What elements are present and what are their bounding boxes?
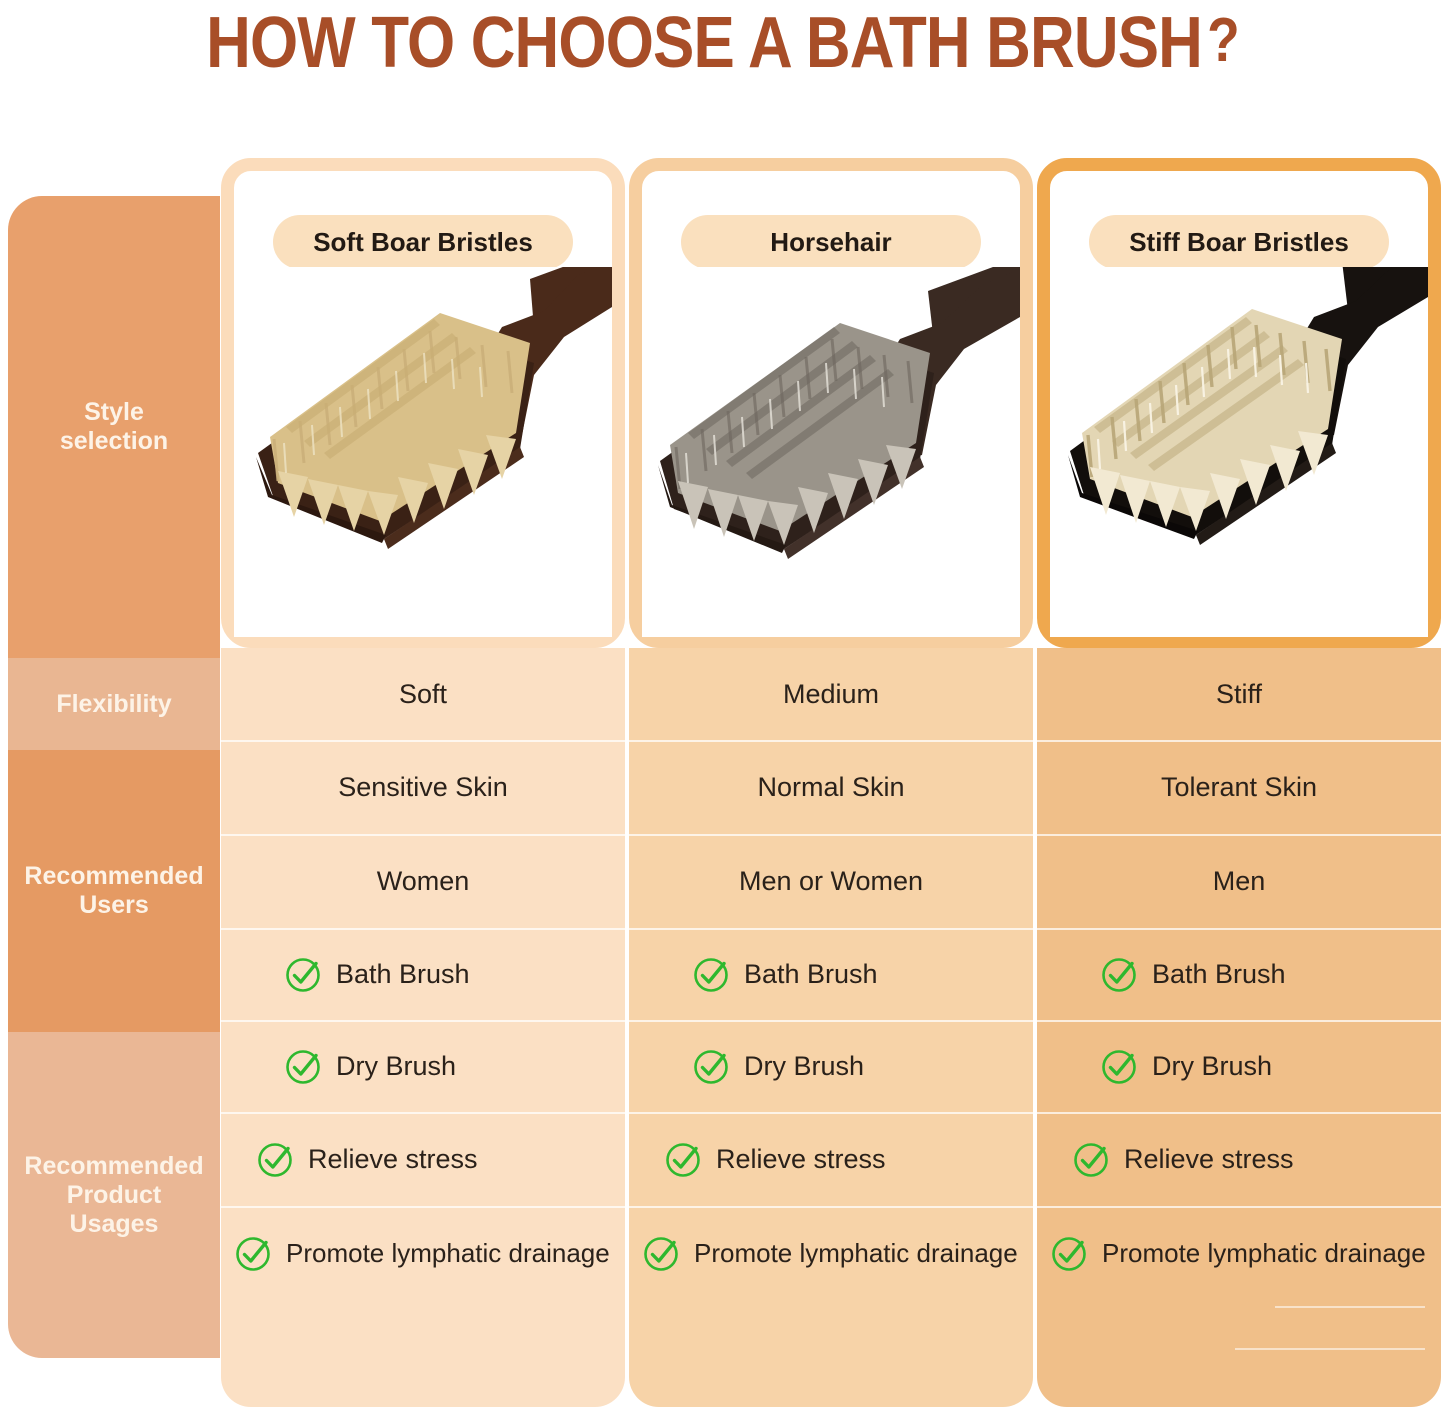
cell-skin-2-text: Normal Skin [757,772,904,803]
brush-illustration-3 [1050,267,1428,637]
row-label-recommended-users: RecommendedUsers [8,750,220,1032]
cell-skin-3: Tolerant Skin [1037,740,1441,834]
cell-skin-3-text: Tolerant Skin [1161,772,1317,803]
cell-usage-2-0-text: Bath Brush [744,959,878,990]
cell-flexibility-1-text: Soft [399,679,447,710]
comparison-table: Styleselection Flexibility RecommendedUs… [0,150,1445,1407]
cell-usage-3-0: Bath Brush [1037,928,1441,1020]
cell-usage-3-0-text: Bath Brush [1152,959,1286,990]
cell-gender-2: Men or Women [629,834,1033,928]
product-column-soft-boar-bristles: Soft Boar Bristles [221,150,625,1407]
check-circle-icon [283,1046,323,1086]
cell-usage-1-3-text: Promote lymphatic drainage [286,1238,610,1269]
cell-usage-3-1-text: Dry Brush [1152,1051,1272,1082]
check-circle-icon [641,1233,681,1273]
product-image-card: Horsehair [629,158,1033,648]
row-label-style-selection: Styleselection [8,196,220,658]
cell-usage-1-3: Promote lymphatic drainage [221,1206,625,1300]
page-title: HOW TO CHOOSE A BATH BRUSH? [101,2,1344,84]
row-label-flexibility: Flexibility [8,658,220,750]
cell-flexibility-2: Medium [629,648,1033,740]
cell-usage-2-2: Relieve stress [629,1112,1033,1206]
row-label-style-selection-text: Styleselection [60,398,168,456]
check-circle-icon [691,1046,731,1086]
page-title-question-mark: ? [1207,6,1239,75]
check-circle-icon [283,954,323,994]
product-image-card: Stiff Boar Bristles [1037,158,1441,648]
cell-usage-3-1: Dry Brush [1037,1020,1441,1112]
cell-usage-1-2-text: Relieve stress [308,1144,478,1175]
cell-flexibility-3: Stiff [1037,648,1441,740]
cell-usage-2-3-text: Promote lymphatic drainage [694,1238,1018,1269]
check-circle-icon [233,1233,273,1273]
cell-usage-3-3-text: Promote lymphatic drainage [1102,1238,1426,1269]
cell-usage-1-0: Bath Brush [221,928,625,1020]
cell-usage-3-2-text: Relieve stress [1124,1144,1294,1175]
cell-usage-3-2: Relieve stress [1037,1112,1441,1206]
cell-usage-1-2: Relieve stress [221,1112,625,1206]
check-circle-icon [663,1139,703,1179]
cell-usage-2-1-text: Dry Brush [744,1051,864,1082]
cell-flexibility-3-text: Stiff [1216,679,1262,710]
brush-photo-horsehair [642,267,1020,637]
cell-usage-2-0: Bath Brush [629,928,1033,1020]
brush-illustration-2 [642,267,1020,637]
cell-flexibility-2-text: Medium [783,679,879,710]
cell-skin-1: Sensitive Skin [221,740,625,834]
cell-usage-1-1-text: Dry Brush [336,1051,456,1082]
product-column-stiff-boar-bristles: Stiff Boar Bristles [1037,150,1441,1407]
row-label-column: Styleselection Flexibility RecommendedUs… [8,196,220,1358]
page-title-text: HOW TO CHOOSE A BATH BRUSH [206,3,1202,83]
product-header-label-2: Horsehair [770,227,891,258]
row-label-recommended-product-usages: RecommendedProductUsages [8,1032,220,1358]
decorative-line [1275,1306,1425,1308]
brush-photo-soft-boar [234,267,612,637]
product-header-pill-1: Soft Boar Bristles [273,215,573,269]
row-label-recommended-product-usages-text: RecommendedProductUsages [24,1152,203,1239]
cell-usage-1-0-text: Bath Brush [336,959,470,990]
check-circle-icon [1099,954,1139,994]
cell-usage-2-2-text: Relieve stress [716,1144,886,1175]
decorative-line [1235,1348,1425,1350]
product-header-label-3: Stiff Boar Bristles [1129,227,1349,258]
cell-usage-3-3: Promote lymphatic drainage [1037,1206,1441,1300]
cell-gender-1-text: Women [377,866,470,897]
cell-gender-2-text: Men or Women [739,866,923,897]
cell-skin-2: Normal Skin [629,740,1033,834]
product-header-pill-2: Horsehair [681,215,981,269]
product-image-card: Soft Boar Bristles [221,158,625,648]
row-label-recommended-users-text: RecommendedUsers [24,862,203,920]
product-column-horsehair: Horsehair [629,150,1033,1407]
product-header-label-1: Soft Boar Bristles [313,227,533,258]
cell-usage-1-1: Dry Brush [221,1020,625,1112]
check-circle-icon [691,954,731,994]
brush-photo-stiff-boar [1050,267,1428,637]
cell-flexibility-1: Soft [221,648,625,740]
check-circle-icon [1049,1233,1089,1273]
row-label-flexibility-text: Flexibility [56,690,171,719]
product-header-pill-3: Stiff Boar Bristles [1089,215,1389,269]
check-circle-icon [1099,1046,1139,1086]
cell-gender-1: Women [221,834,625,928]
check-circle-icon [1071,1139,1111,1179]
check-circle-icon [255,1139,295,1179]
cell-usage-2-1: Dry Brush [629,1020,1033,1112]
cell-usage-2-3: Promote lymphatic drainage [629,1206,1033,1300]
cell-skin-1-text: Sensitive Skin [338,772,508,803]
infographic-page: HOW TO CHOOSE A BATH BRUSH? Styleselecti… [0,0,1445,1407]
brush-illustration-1 [234,267,612,637]
cell-gender-3: Men [1037,834,1441,928]
cell-gender-3-text: Men [1213,866,1266,897]
